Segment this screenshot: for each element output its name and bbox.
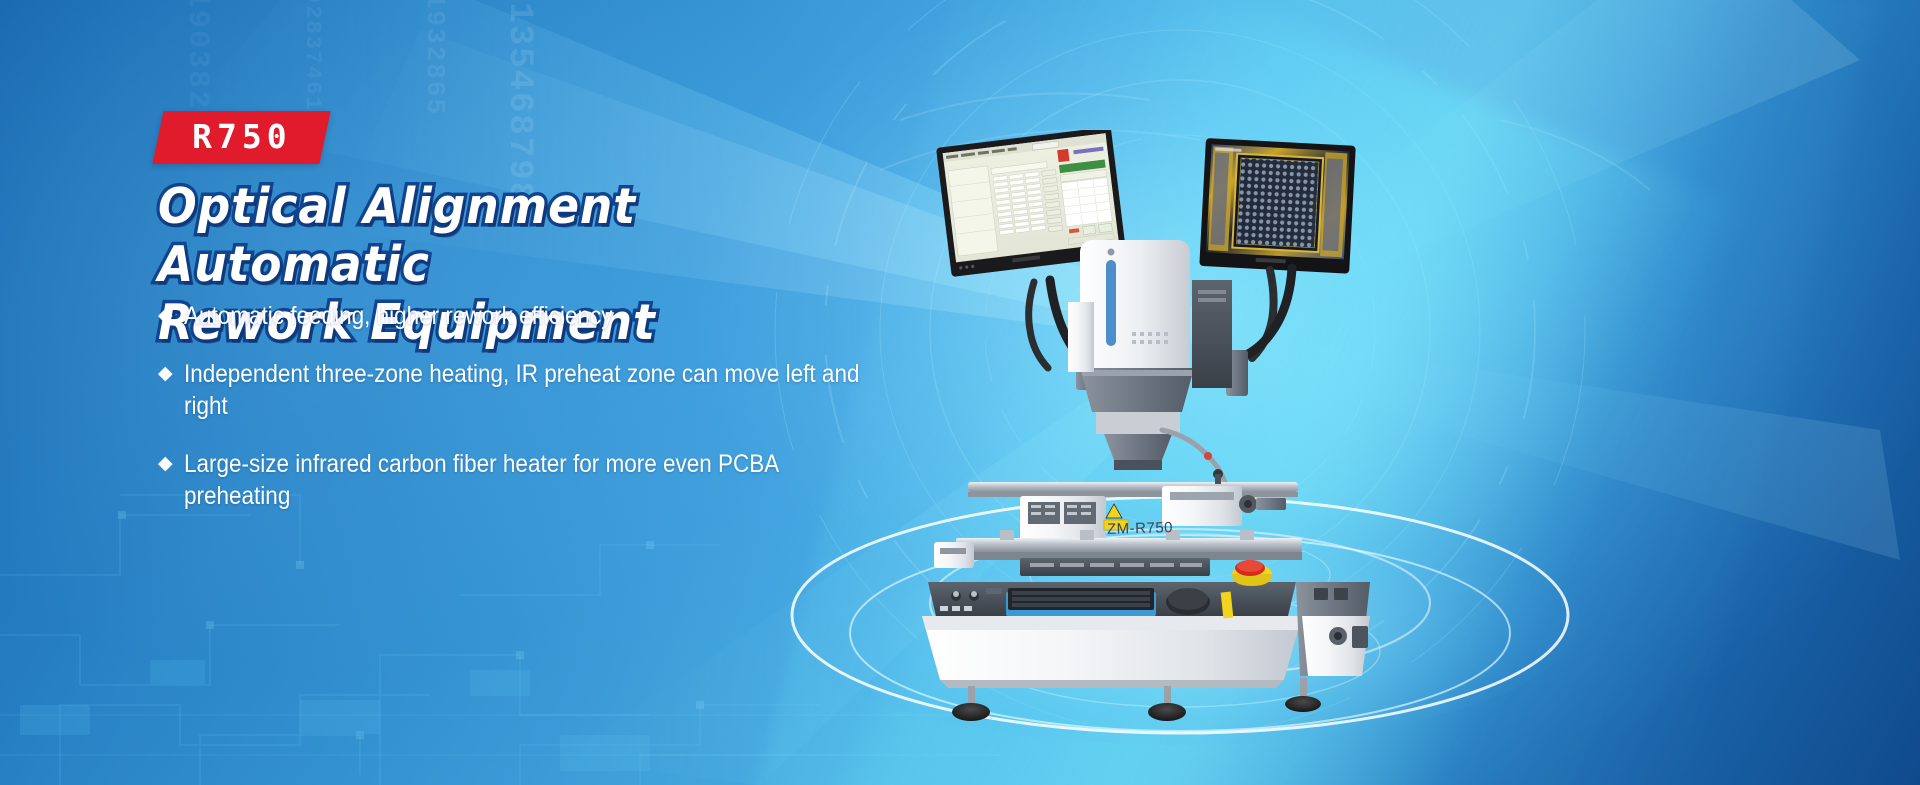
diamond-bullet-icon: ◆	[158, 449, 173, 479]
emergency-stop-button	[1232, 560, 1272, 586]
keyboard-tray	[1006, 588, 1156, 616]
list-item: ◆ Large-size infrared carbon fiber heate…	[158, 448, 958, 512]
diamond-bullet-icon: ◆	[158, 359, 173, 389]
machine-base	[922, 560, 1370, 688]
list-item: ◆ Independent three-zone heating, IR pre…	[158, 358, 958, 422]
machine-model-label: ZM-R750	[1107, 519, 1173, 538]
list-item: ◆ Automatic feeding, higher rework effic…	[158, 300, 958, 332]
right-monitor-arm	[1226, 268, 1292, 396]
model-badge-label: R750	[192, 117, 291, 157]
promo-banner: 2135468798 0471932865 9283746150 5619038…	[0, 0, 1920, 785]
feature-text: Independent three-zone heating, IR prehe…	[184, 358, 881, 422]
heater-nozzle-assembly	[1096, 412, 1226, 486]
feature-text: Automatic feeding, higher rework efficie…	[184, 300, 613, 332]
product-image-zm-r750	[900, 130, 1420, 750]
right-monitor	[1199, 138, 1355, 274]
text-content-block: R750 Optical Alignment Automatic Rework …	[0, 0, 960, 785]
diamond-bullet-icon: ◆	[158, 301, 173, 331]
feature-list: ◆ Automatic feeding, higher rework effic…	[158, 300, 958, 538]
feature-text: Large-size infrared carbon fiber heater …	[184, 448, 881, 512]
model-badge: R750	[152, 111, 331, 164]
